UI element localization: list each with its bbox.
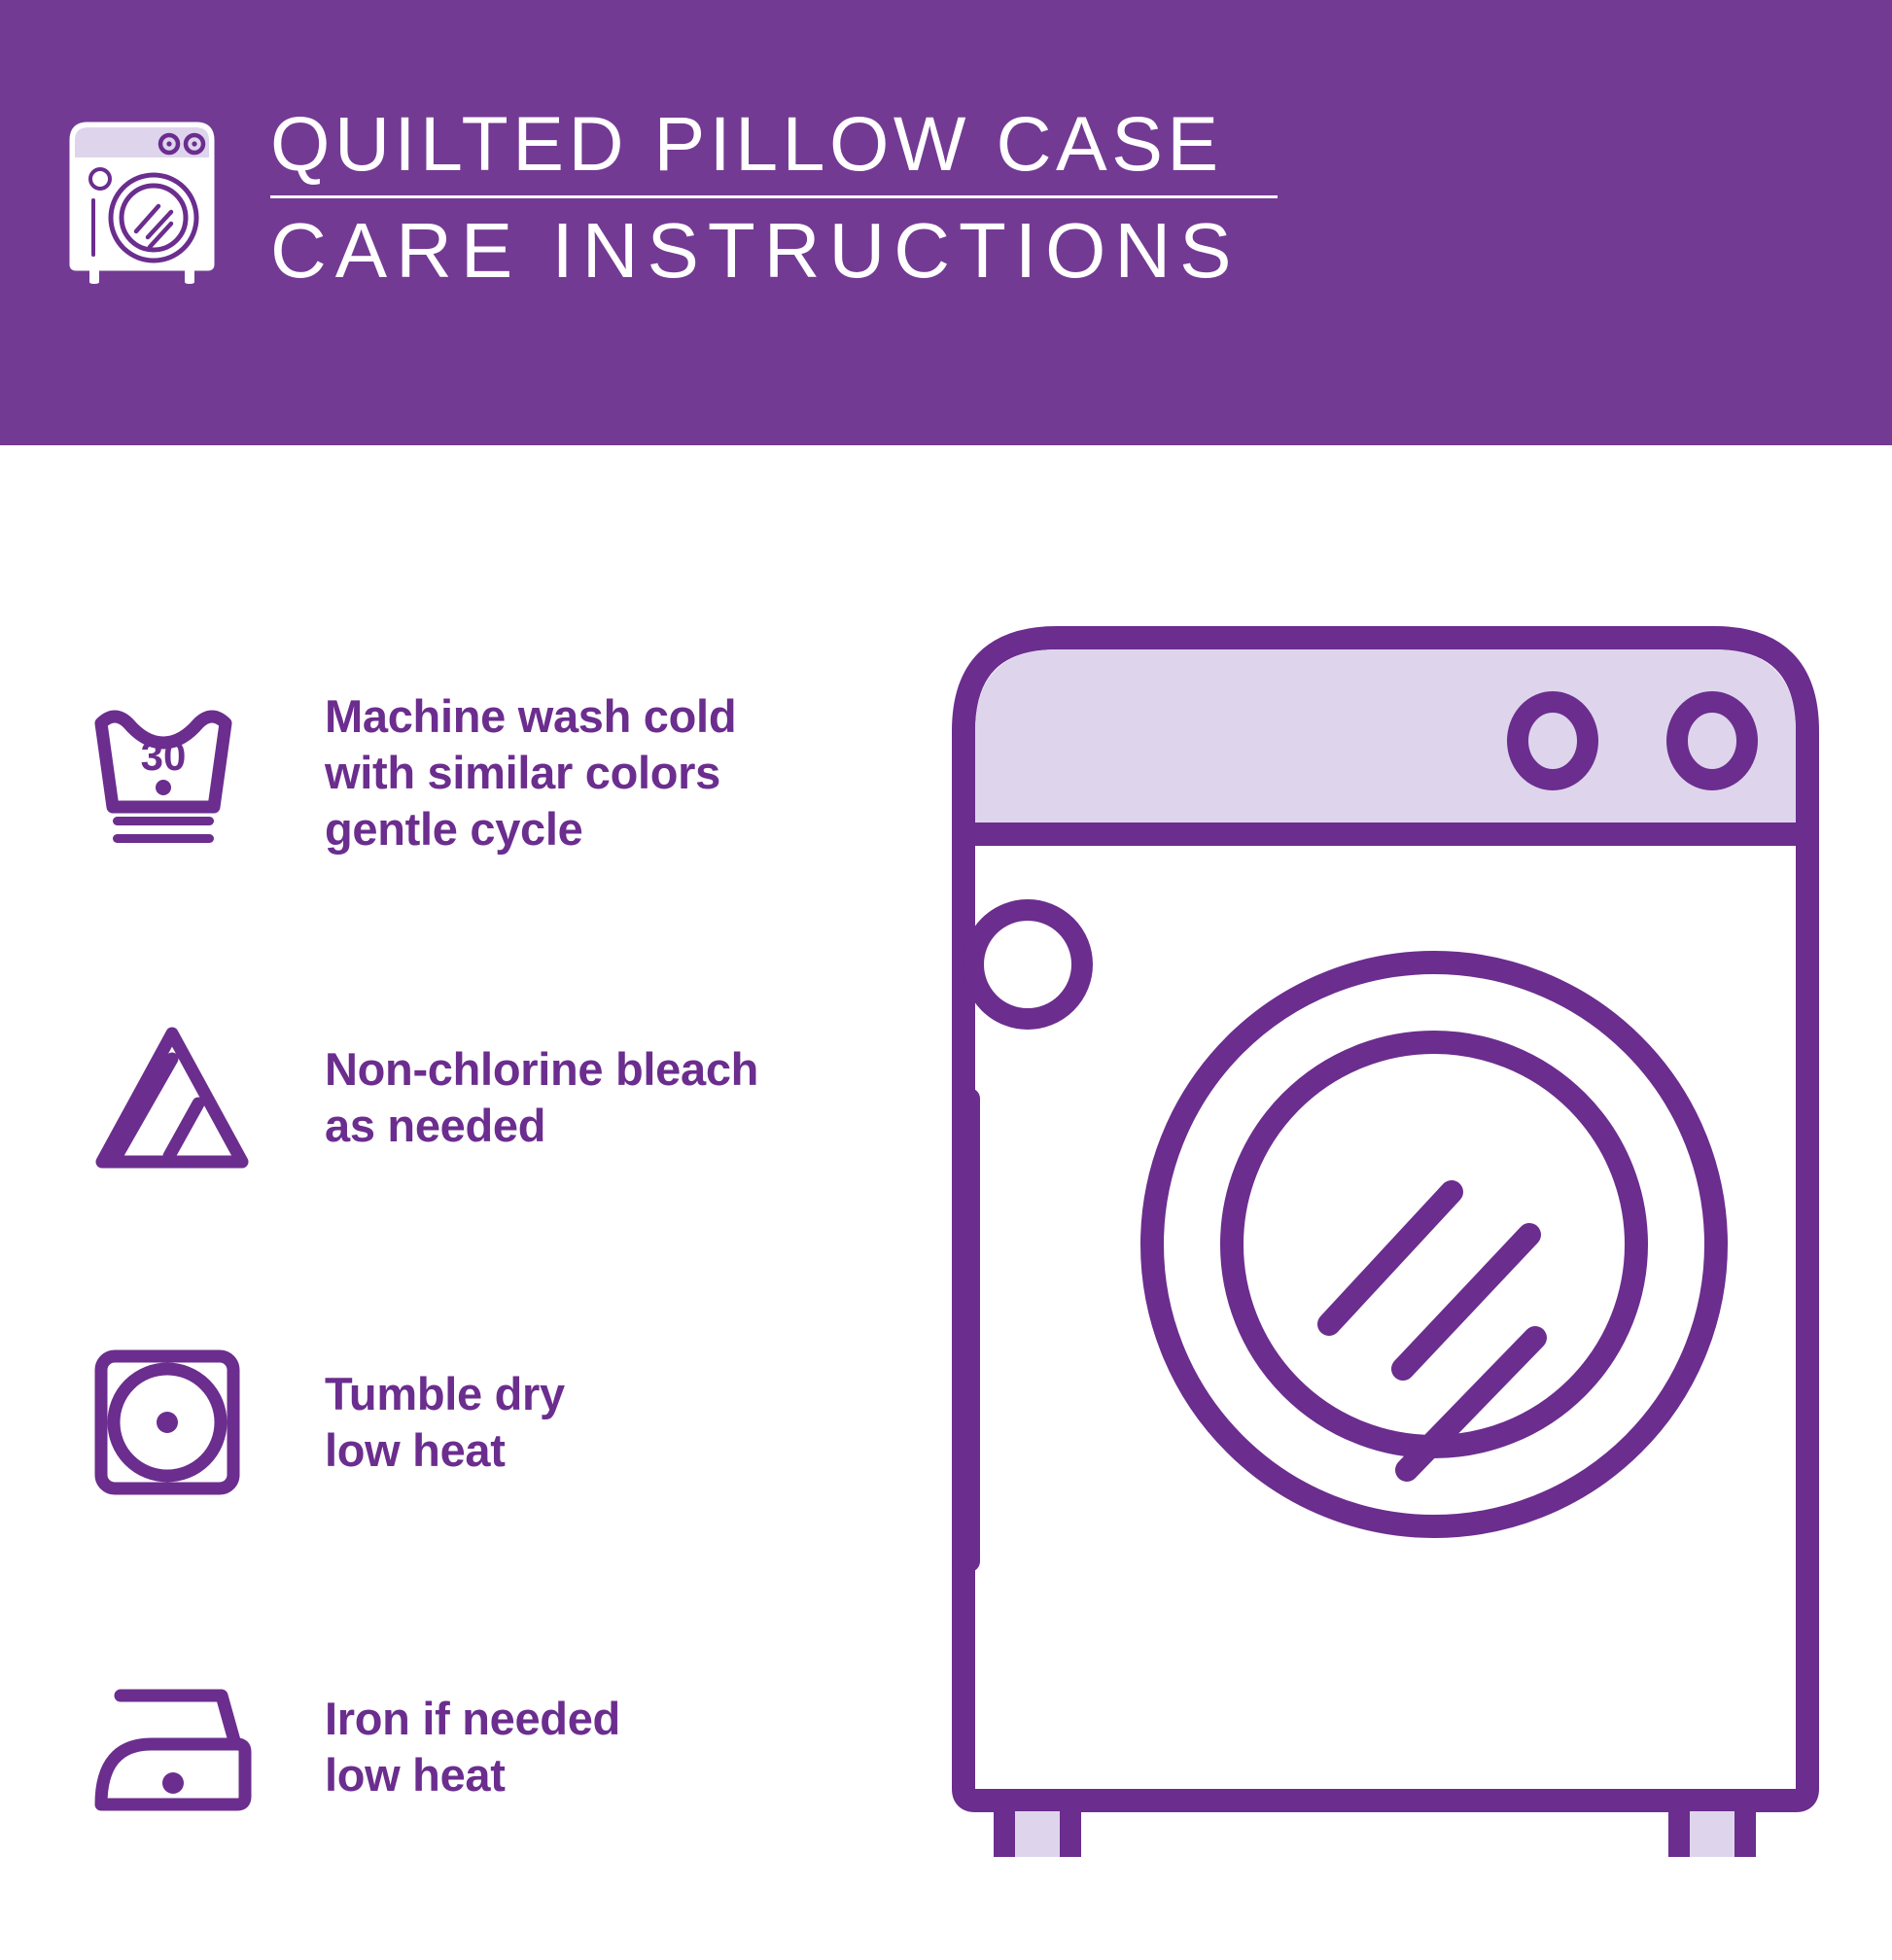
header-text-block: QUILTED PILLOW CASE CARE INSTRUCTIONS [270, 105, 1278, 292]
care-text-tumble-dry: Tumble dry low heat [325, 1366, 565, 1480]
bleach-triangle-icon [89, 1005, 284, 1190]
care-line: Tumble dry [325, 1366, 565, 1422]
care-text-iron: Iron if needed low heat [325, 1691, 620, 1804]
header-banner: QUILTED PILLOW CASE CARE INSTRUCTIONS [0, 0, 1892, 445]
tumble-dry-icon [89, 1330, 284, 1515]
care-line: as needed [325, 1098, 758, 1154]
title-divider [270, 195, 1278, 198]
care-line: low heat [325, 1422, 565, 1479]
care-row-iron: Iron if needed low heat [0, 1635, 933, 1859]
care-line: low heat [325, 1747, 620, 1803]
machine-leg [1004, 1801, 1070, 1857]
page-subtitle: CARE INSTRUCTIONS [270, 204, 1278, 292]
care-line: gentle cycle [325, 801, 736, 857]
care-row-bleach: Non-chlorine bleach as needed [0, 986, 933, 1209]
wash-temperature-label: 30 [141, 733, 187, 779]
care-line: Non-chlorine bleach [325, 1041, 758, 1098]
machine-leg [1679, 1801, 1745, 1857]
care-text-bleach: Non-chlorine bleach as needed [325, 1041, 758, 1155]
header-content: QUILTED PILLOW CASE CARE INSTRUCTIONS [64, 105, 1278, 292]
care-row-machine-wash: 30 Machine wash cold with similar colors… [0, 661, 933, 885]
care-text-machine-wash: Machine wash cold with similar colors ge… [325, 688, 736, 858]
wash-tub-icon: 30 [89, 681, 284, 865]
knob-icon[interactable] [1677, 702, 1747, 780]
care-line: with similar colors [325, 745, 736, 801]
knob-icon[interactable] [1518, 702, 1588, 780]
washing-machine-icon [64, 111, 220, 284]
care-line: Machine wash cold [325, 688, 736, 745]
page-title: QUILTED PILLOW CASE [270, 105, 1278, 193]
washing-machine-illustration [948, 622, 1823, 1857]
iron-icon [89, 1655, 284, 1839]
care-line: Iron if needed [325, 1691, 620, 1747]
care-row-tumble-dry: Tumble dry low heat [0, 1311, 933, 1534]
care-instructions-list: 30 Machine wash cold with similar colors… [0, 661, 933, 1960]
